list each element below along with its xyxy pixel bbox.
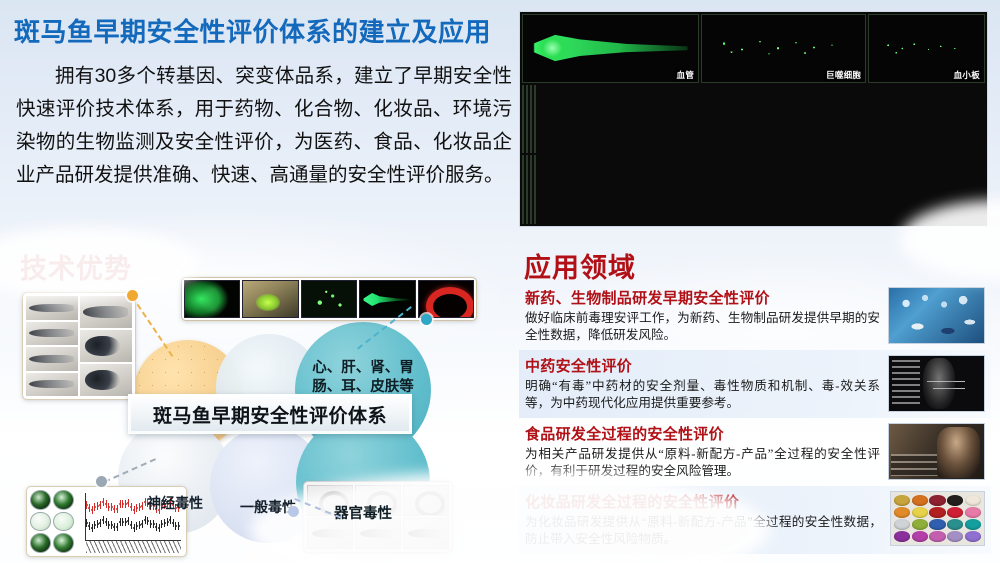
chart-data-point bbox=[91, 509, 93, 511]
chart-data-point bbox=[141, 523, 143, 525]
cosmetic-pigment-dot bbox=[912, 495, 928, 506]
chart-data-point bbox=[122, 503, 124, 505]
cosmetic-pigment-dot bbox=[894, 495, 910, 506]
chart-data-point bbox=[102, 501, 104, 503]
page-title: 斑马鱼早期安全性评价体系的建立及应用 bbox=[14, 12, 514, 49]
well-micrograph bbox=[30, 533, 51, 553]
photo-cell-cartilage: 软骨 bbox=[534, 155, 536, 224]
chart-data-point bbox=[136, 507, 138, 509]
chart-data-point bbox=[133, 509, 135, 511]
macrophage-fluorescence-icon bbox=[709, 28, 859, 67]
thumbnail-panel-developmental bbox=[22, 292, 136, 400]
zebrafish-photo bbox=[80, 330, 132, 362]
chart-data-point bbox=[130, 506, 132, 508]
cosmetic-pigment-dot bbox=[912, 519, 928, 530]
application-thumbnail-anatomy bbox=[888, 355, 985, 412]
chart-data-point bbox=[136, 525, 138, 527]
chart-data-point bbox=[172, 522, 174, 524]
chart-data-point bbox=[158, 527, 160, 529]
application-text: 新药、生物制品研发早期安全性评价 做好临床前毒理安评工作，为新药、生物制品研发提… bbox=[525, 287, 880, 344]
gray-grid-column bbox=[26, 296, 78, 396]
application-row-new-drug[interactable]: 新药、生物制品研发早期安全性评价 做好临床前毒理安评工作，为新药、生物制品研发提… bbox=[519, 282, 991, 350]
chart-data-point bbox=[94, 506, 96, 508]
chart-data-point bbox=[125, 521, 127, 523]
photo-row-2: 心脏 肝脏 gl pt pd 肾脏 神经元 bbox=[522, 85, 985, 154]
cosmetic-pigment-dot bbox=[947, 519, 963, 530]
intro-paragraph: 拥有30多个转基因、突变体品系，建立了早期安全性快速评价技术体系，用于药物、化合… bbox=[16, 60, 512, 192]
chart-data-point bbox=[153, 523, 155, 525]
chart-data-point bbox=[99, 522, 101, 524]
cosmetic-pigment-dot bbox=[929, 531, 945, 542]
chart-data-point bbox=[88, 525, 90, 527]
cosmetic-pigment-dot bbox=[894, 507, 910, 518]
chart-data-point bbox=[141, 505, 143, 507]
well-micrograph bbox=[30, 512, 51, 532]
connector-dot-organs bbox=[421, 314, 432, 325]
chart-data-point bbox=[94, 524, 96, 526]
chart-data-point bbox=[105, 503, 107, 505]
photo-row-3: 皮肤 肌肉 硬骨 软骨 bbox=[522, 155, 985, 224]
well-micrograph bbox=[30, 490, 51, 510]
application-thumbnail-market bbox=[888, 423, 985, 480]
chart-data-point bbox=[99, 504, 101, 506]
photo-cell-skin: 皮肤 bbox=[522, 155, 524, 224]
photo-cell-bone: 硬骨 bbox=[530, 155, 532, 224]
fluorescence-photo-liver bbox=[242, 280, 298, 318]
application-title: 新药、生物制品研发早期安全性评价 bbox=[525, 287, 880, 308]
well-micrograph bbox=[53, 490, 74, 510]
chart-data-point bbox=[88, 507, 90, 509]
chart-series-black bbox=[86, 518, 181, 532]
photo-cell-heart: 心脏 bbox=[522, 85, 524, 154]
chart-data-point bbox=[167, 521, 169, 523]
chart-data-point bbox=[102, 519, 104, 521]
photo-caption: 血管 bbox=[675, 69, 697, 81]
fluorescence-photo-brain bbox=[184, 280, 240, 318]
fluorescence-photo-tail bbox=[359, 280, 415, 318]
fluorescence-photo-ear bbox=[418, 280, 474, 318]
anatomy-table-rows bbox=[892, 360, 921, 406]
chart-data-point bbox=[91, 527, 93, 529]
chart-x-tick-labels bbox=[86, 541, 181, 553]
anatomy-leader-line bbox=[927, 381, 965, 382]
well-micrograph bbox=[53, 533, 74, 553]
cosmetic-pigment-dot bbox=[965, 519, 981, 530]
application-thumbnail-cosmetics bbox=[890, 491, 985, 546]
chart-data-point bbox=[113, 508, 115, 510]
cosmetic-pigment-dot bbox=[965, 507, 981, 518]
photo-cell-muscle: 肌肉 bbox=[526, 155, 528, 224]
cosmetic-pigment-dot bbox=[947, 531, 963, 542]
apps-section-heading: 应用领域 bbox=[524, 246, 636, 285]
zebrafish-photo bbox=[80, 364, 132, 396]
chart-data-point bbox=[147, 520, 149, 522]
chart-data-point bbox=[97, 505, 99, 507]
fluorescence-strip bbox=[184, 280, 474, 318]
circle-label: 心、肝、肾、胃 肠、耳、皮肤等 bbox=[312, 359, 414, 397]
cosmetic-pigment-dot bbox=[947, 495, 963, 506]
circle-label: 神经毒性 bbox=[147, 493, 203, 513]
application-description: 明确“有毒”中药材的安全剂量、毒性物质和机制、毒-效关系等，为中药现代化应用提供… bbox=[525, 378, 880, 412]
application-title: 食品研发全过程的安全性评价 bbox=[525, 423, 880, 444]
zebrafish-gray-grid bbox=[26, 296, 132, 396]
chart-data-point bbox=[178, 525, 180, 527]
zebrafish-photo bbox=[80, 296, 132, 328]
kidney-label-pd: pd bbox=[531, 115, 532, 124]
cosmetic-pigment-dot bbox=[912, 531, 928, 542]
chart-data-point bbox=[122, 521, 124, 523]
photo-cell-kidney: gl pt pd 肾脏 bbox=[530, 85, 532, 154]
zebrafish-photo bbox=[26, 373, 78, 397]
chart-data-point bbox=[86, 504, 88, 506]
chart-data-point bbox=[155, 526, 157, 528]
photo-cell-vessel: 血管 bbox=[522, 14, 699, 83]
chart-data-point bbox=[113, 526, 115, 528]
kidney-label-gl: gl bbox=[531, 92, 532, 101]
fluorescence-photo-gut bbox=[301, 280, 357, 318]
slide-root: 斑马鱼早期安全性评价体系的建立及应用 拥有30多个转基因、突变体品系，建立了早期… bbox=[0, 0, 1000, 563]
chart-data-point bbox=[150, 523, 152, 525]
chart-data-point bbox=[125, 503, 127, 505]
gray-grid-column bbox=[80, 296, 132, 396]
well-micrograph-grid bbox=[30, 490, 74, 553]
chart-data-point bbox=[116, 508, 118, 510]
chart-data-point bbox=[133, 527, 135, 529]
connector-dev bbox=[131, 296, 173, 357]
thumbnail-panel-fluorescence-strip bbox=[181, 277, 477, 321]
connector-dot-developmental bbox=[127, 290, 138, 301]
application-row-tcm[interactable]: 中药安全性评价 明确“有毒”中药材的安全剂量、毒性物质和机制、毒-效关系等，为中… bbox=[519, 350, 991, 418]
market-shelf-detail bbox=[891, 454, 946, 476]
zebrafish-photo bbox=[26, 296, 78, 320]
photo-cell-liver: 肝脏 bbox=[526, 85, 528, 154]
photo-cell-platelet: 血小板 bbox=[868, 14, 985, 83]
zebrafish-imaging-grid: 血管 巨噬细胞 血小板 心脏 肝脏 gl pt bbox=[519, 11, 988, 227]
kidney-label-pt: pt bbox=[531, 96, 532, 105]
cosmetic-pigment-dot bbox=[965, 495, 981, 506]
photo-caption: 血小板 bbox=[952, 69, 982, 81]
cosmetic-pigment-dot bbox=[929, 507, 945, 518]
anatomy-leader-line bbox=[933, 388, 965, 389]
cosmetic-pigment-dot bbox=[912, 507, 928, 518]
well-micrograph bbox=[53, 512, 74, 532]
zebrafish-photo bbox=[26, 347, 78, 371]
zebrafish-photo bbox=[26, 322, 78, 346]
cosmetic-pigment-dot bbox=[965, 531, 981, 542]
circle-label: 一般毒性 bbox=[240, 497, 296, 517]
diagram-center-banner: 斑马鱼早期安全性评价体系 bbox=[128, 394, 412, 434]
cosmetic-pigment-dot bbox=[894, 519, 910, 530]
photo-caption: 巨噬细胞 bbox=[824, 69, 863, 81]
photo-cell-neuron: 神经元 bbox=[534, 85, 536, 154]
vessel-fluorescence-icon bbox=[534, 32, 688, 64]
application-title: 中药安全性评价 bbox=[525, 355, 880, 376]
chart-data-point bbox=[86, 522, 88, 524]
chart-data-point bbox=[130, 524, 132, 526]
chart-data-point bbox=[105, 521, 107, 523]
application-text: 中药安全性评价 明确“有毒”中药材的安全剂量、毒性物质和机制、毒-效关系等，为中… bbox=[525, 355, 880, 412]
chart-data-point bbox=[116, 526, 118, 528]
photo-row-1: 血管 巨噬细胞 血小板 bbox=[522, 14, 985, 83]
cosmetic-pigment-dot bbox=[947, 507, 963, 518]
cosmetic-pigment-dot bbox=[929, 519, 945, 530]
chart-data-point bbox=[161, 523, 163, 525]
platelet-fluorescence-icon bbox=[876, 22, 977, 75]
cosmetic-pigment-dot bbox=[894, 531, 910, 542]
connector-dot-organ bbox=[288, 506, 299, 517]
chart-data-point bbox=[97, 523, 99, 525]
circle-label: 器官毒性 bbox=[334, 502, 392, 523]
kidney-arrow-pd bbox=[531, 120, 532, 121]
cosmetic-pigment-dot bbox=[929, 495, 945, 506]
photo-cell-macrophage: 巨噬细胞 bbox=[701, 14, 866, 83]
application-description: 做好临床前毒理安评工作，为新药、生物制品研发提供早期的安全性数据，降低研发风险。 bbox=[525, 310, 880, 344]
application-thumbnail-pills bbox=[888, 287, 985, 344]
connector-dot-neuro bbox=[96, 476, 107, 487]
chart-data-point bbox=[164, 522, 166, 524]
